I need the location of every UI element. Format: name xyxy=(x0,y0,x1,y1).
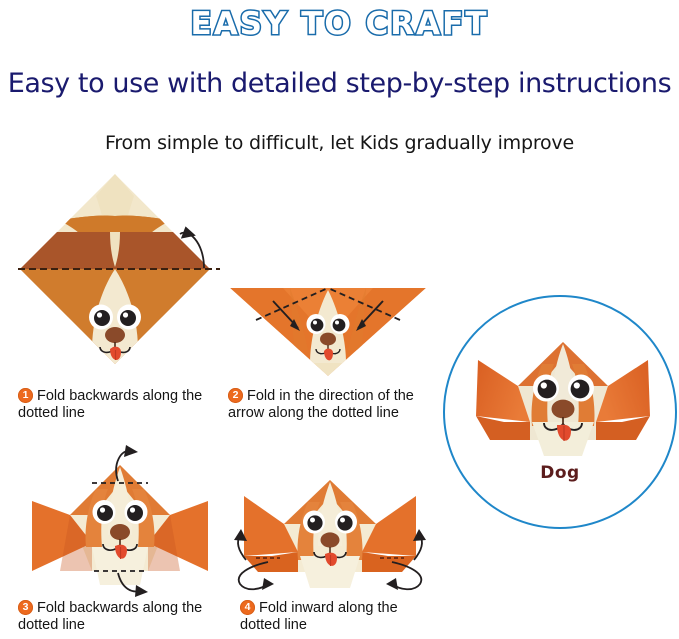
page-subtitle: Easy to use with detailed step-by-step i… xyxy=(0,68,679,99)
origami-dog-diamond-svg xyxy=(18,172,233,382)
step-4-caption-text: Fold inward along the dotted line xyxy=(240,600,398,633)
origami-dog-finished-svg xyxy=(468,330,658,470)
page-title: EASY TO CRAFT xyxy=(0,6,679,42)
step-4-caption: 4Fold inward along the dotted line xyxy=(240,600,440,634)
step-3-figure xyxy=(18,443,223,598)
origami-dog-final-svg xyxy=(228,460,433,600)
origami-dog-ears-down-svg xyxy=(18,443,223,598)
step-2-badge: 2 xyxy=(228,388,243,403)
origami-dog-triangle-svg xyxy=(228,268,428,378)
step-1-caption: 1Fold backwards along the dotted line xyxy=(18,388,218,422)
step-2-caption: 2Fold in the direction of the arrow alon… xyxy=(228,388,433,422)
step-3-caption: 3Fold backwards along the dotted line xyxy=(18,600,218,634)
result-label: Dog xyxy=(443,463,677,483)
step-2-figure xyxy=(228,268,428,378)
result-figure xyxy=(468,330,658,470)
step-1-caption-text: Fold backwards along the dotted line xyxy=(18,388,202,421)
page-subtitle-secondary: From simple to difficult, let Kids gradu… xyxy=(0,132,679,154)
step-3-caption-text: Fold backwards along the dotted line xyxy=(18,600,202,633)
step-1-figure xyxy=(18,172,233,382)
triangle-body xyxy=(230,288,426,376)
step-2-caption-text: Fold in the direction of the arrow along… xyxy=(228,388,414,421)
craft-instructions-page: EASY TO CRAFT Easy to use with detailed … xyxy=(0,0,679,639)
step-1-badge: 1 xyxy=(18,388,33,403)
step-4-figure xyxy=(228,460,433,600)
step-3-badge: 3 xyxy=(18,600,33,615)
step-4-badge: 4 xyxy=(240,600,255,615)
